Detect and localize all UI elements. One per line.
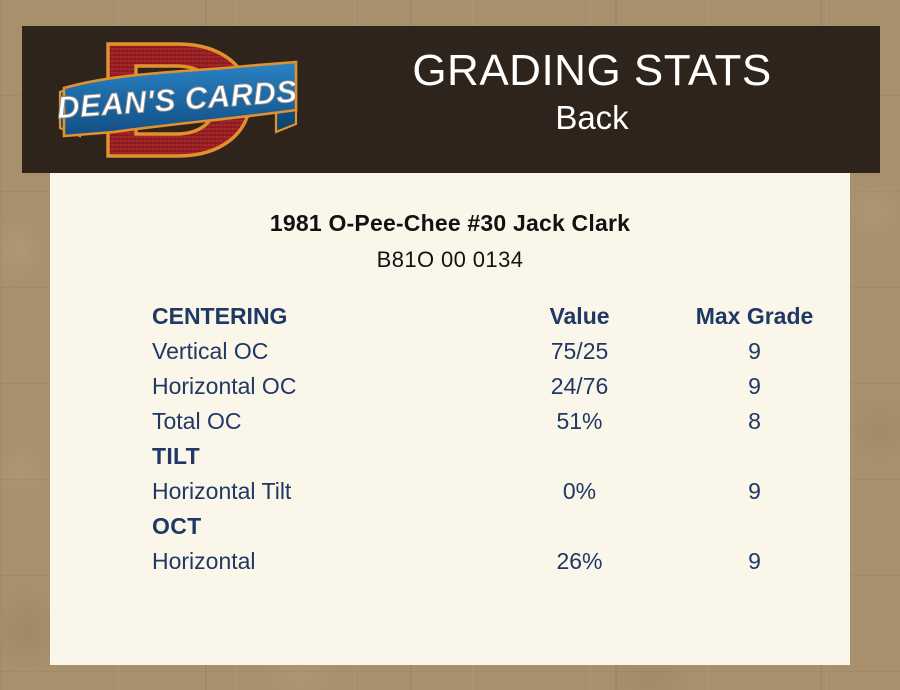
stat-row-label: Horizontal <box>152 544 492 579</box>
stat-row-max-grade: 9 <box>667 369 842 404</box>
stats-table-body: Vertical OC75/259Horizontal OC24/769Tota… <box>152 334 842 579</box>
stats-section-value-spacer <box>492 509 667 544</box>
table-row: Horizontal OC24/769 <box>152 369 842 404</box>
stat-row-label: Horizontal Tilt <box>152 474 492 509</box>
stats-section-label: TILT <box>152 439 492 474</box>
page-subtitle: Back <box>322 98 862 138</box>
card-serial: B81O 00 0134 <box>50 247 850 273</box>
table-header-row: CENTERING Value Max Grade <box>152 299 842 334</box>
stat-row-value: 51% <box>492 404 667 439</box>
card-title: 1981 O-Pee-Chee #30 Jack Clark <box>50 210 850 237</box>
stat-row-value: 24/76 <box>492 369 667 404</box>
stat-row-value: 75/25 <box>492 334 667 369</box>
column-header-centering: CENTERING <box>152 299 492 334</box>
column-header-value: Value <box>492 299 667 334</box>
stat-row-label: Vertical OC <box>152 334 492 369</box>
grading-stats-table: CENTERING Value Max Grade Vertical OC75/… <box>152 299 842 579</box>
content-panel: 1981 O-Pee-Chee #30 Jack Clark B81O 00 0… <box>50 173 850 665</box>
table-row: Horizontal26%9 <box>152 544 842 579</box>
stats-section-value-spacer <box>492 439 667 474</box>
stats-section-grade-spacer <box>667 439 842 474</box>
header-title-block: GRADING STATS Back <box>322 44 862 138</box>
stat-row-value: 0% <box>492 474 667 509</box>
page-title: GRADING STATS <box>322 44 862 98</box>
stats-section-label: OCT <box>152 509 492 544</box>
table-row: Vertical OC75/259 <box>152 334 842 369</box>
stats-section-row: TILT <box>152 439 842 474</box>
table-row: Horizontal Tilt0%9 <box>152 474 842 509</box>
column-header-max-grade: Max Grade <box>667 299 842 334</box>
stats-table-head: CENTERING Value Max Grade <box>152 299 842 334</box>
stats-section-grade-spacer <box>667 509 842 544</box>
stat-row-value: 26% <box>492 544 667 579</box>
stat-row-label: Horizontal OC <box>152 369 492 404</box>
stat-row-label: Total OC <box>152 404 492 439</box>
deans-cards-logo[interactable]: DEAN'S CARDS <box>50 32 305 167</box>
stat-row-max-grade: 8 <box>667 404 842 439</box>
table-row: Total OC51%8 <box>152 404 842 439</box>
header-bar: DEAN'S CARDS GRADING STATS Back <box>22 26 880 173</box>
stat-row-max-grade: 9 <box>667 544 842 579</box>
stat-row-max-grade: 9 <box>667 474 842 509</box>
stats-section-row: OCT <box>152 509 842 544</box>
stat-row-max-grade: 9 <box>667 334 842 369</box>
